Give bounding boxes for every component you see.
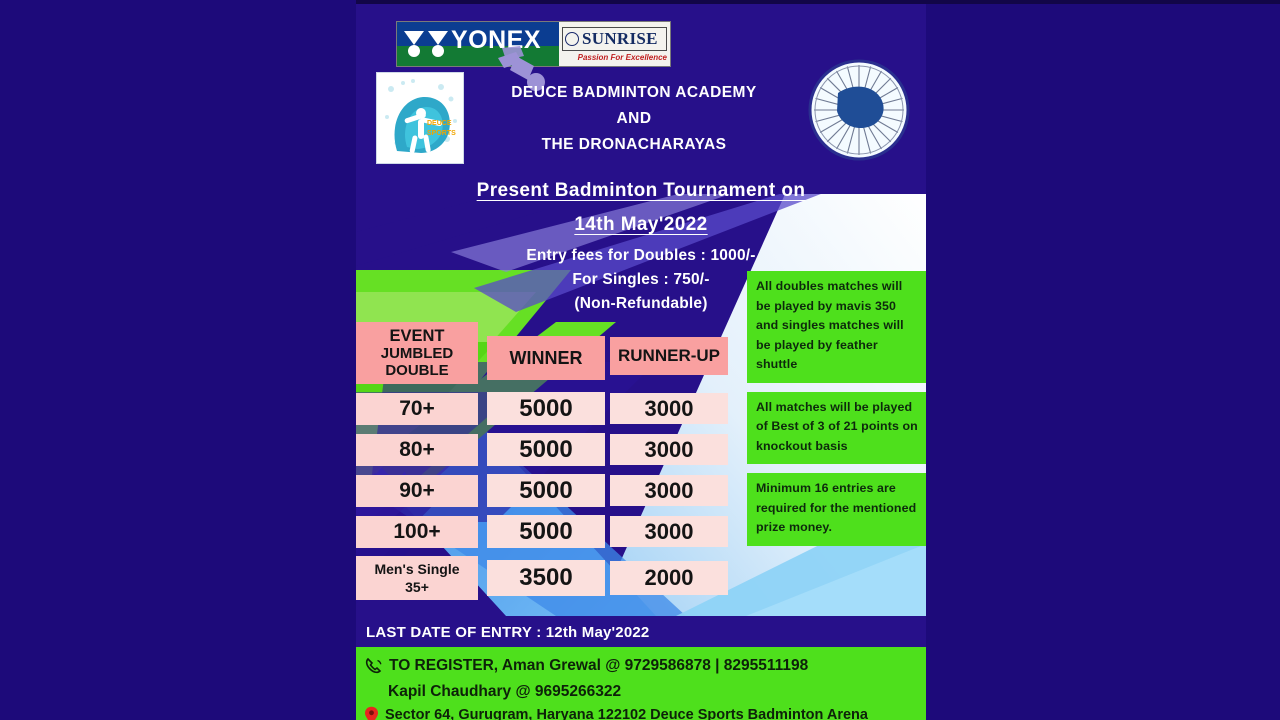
- phone-icon: [364, 657, 383, 676]
- row-runnerup: 3000: [610, 393, 728, 424]
- register-second-contact: Kapil Chaudhary @ 9695266322: [364, 679, 920, 704]
- prize-table: EVENT JUMBLED DOUBLE WINNER RUNNER-UP 70…: [356, 322, 728, 600]
- row-runnerup: 3000: [610, 475, 728, 506]
- location-pin-icon: [364, 706, 379, 720]
- row-runnerup: 3000: [610, 434, 728, 465]
- academy-line-2: AND: [474, 106, 794, 132]
- header-runnerup-cell: RUNNER-UP: [610, 337, 728, 375]
- table-row: 80+ 5000 3000: [356, 433, 728, 466]
- screen-background: YONEX SUNRISE Passion For Excellence: [0, 0, 1280, 720]
- row-event: 90+: [356, 475, 478, 507]
- row-event: 80+: [356, 434, 478, 466]
- deuce-sports-logo-icon: DEUCE SPORTS: [376, 72, 464, 164]
- note-shuttle-type: All doubles matches will be played by ma…: [747, 271, 926, 383]
- row-event: 70+: [356, 393, 478, 425]
- poster-title: Present Badminton Tournament on 14th May…: [356, 174, 926, 242]
- academy-line-1: DEUCE BADMINTON ACADEMY: [474, 80, 794, 106]
- title-line-1: Present Badminton Tournament on: [477, 180, 806, 201]
- row-winner: 5000: [487, 474, 605, 507]
- header-event-line3: DOUBLE: [385, 362, 448, 379]
- header-event-cell: EVENT JUMBLED DOUBLE: [356, 322, 478, 384]
- table-row: Men's Single 35+ 3500 2000: [356, 556, 728, 600]
- header-event-line2: JUMBLED: [381, 345, 454, 362]
- register-phone-line: TO REGISTER, Aman Grewal @ 9729586878 | …: [364, 653, 920, 679]
- note-match-format: All matches will be played of Best of 3 …: [747, 392, 926, 465]
- row-winner: 5000: [487, 515, 605, 548]
- row-event: 100+: [356, 516, 478, 548]
- note-minimum-entries: Minimum 16 entries are required for the …: [747, 473, 926, 546]
- sunrise-wordmark: SUNRISE: [582, 29, 658, 49]
- row-winner: 5000: [487, 392, 605, 425]
- row-runnerup: 3000: [610, 516, 728, 547]
- academy-line-3: THE DRONACHARAYAS: [474, 132, 794, 158]
- title-line-2: 14th May'2022: [574, 214, 707, 235]
- register-line-2: Kapil Chaudhary @ 9695266322: [388, 679, 621, 704]
- ashoka-chakra-icon: [808, 59, 910, 161]
- last-date-of-entry: LAST DATE OF ENTRY : 12th May'2022: [356, 617, 926, 647]
- poster-header: YONEX SUNRISE Passion For Excellence: [356, 4, 926, 194]
- rules-notes: All doubles matches will be played by ma…: [747, 271, 926, 546]
- header-event-line1: EVENT: [389, 328, 444, 345]
- tournament-poster: YONEX SUNRISE Passion For Excellence: [356, 4, 926, 720]
- table-row: 90+ 5000 3000: [356, 474, 728, 507]
- row-event: Men's Single 35+: [356, 556, 478, 600]
- sunrise-seal-icon: [565, 32, 579, 46]
- svg-text:SPORTS: SPORTS: [427, 130, 456, 137]
- register-address-line: Sector 64, Gurugram, Haryana 122102 Deuc…: [364, 704, 920, 720]
- register-line-3: Sector 64, Gurugram, Haryana 122102 Deuc…: [385, 704, 868, 720]
- register-line-1: TO REGISTER, Aman Grewal @ 9729586878 | …: [389, 653, 808, 679]
- row-event-line2: 35+: [405, 578, 429, 596]
- table-row: 100+ 5000 3000: [356, 515, 728, 548]
- header-winner-cell: WINNER: [487, 336, 605, 380]
- table-row: 70+ 5000 3000: [356, 392, 728, 425]
- row-winner: 5000: [487, 433, 605, 466]
- row-event-line1: Men's Single: [374, 560, 459, 578]
- registration-block: TO REGISTER, Aman Grewal @ 9729586878 | …: [356, 647, 926, 720]
- svg-text:DEUCE: DEUCE: [427, 120, 452, 127]
- yonex-chevron-icon: [403, 29, 449, 59]
- fees-doubles: Entry fees for Doubles : 1000/-: [356, 244, 926, 268]
- row-winner: 3500: [487, 560, 605, 596]
- row-runnerup: 2000: [610, 561, 728, 595]
- sunrise-tagline: Passion For Excellence: [562, 53, 667, 62]
- sunrise-logo: SUNRISE Passion For Excellence: [559, 22, 670, 66]
- academy-names: DEUCE BADMINTON ACADEMY AND THE DRONACHA…: [474, 80, 794, 158]
- table-header-row: EVENT JUMBLED DOUBLE WINNER RUNNER-UP: [356, 322, 728, 384]
